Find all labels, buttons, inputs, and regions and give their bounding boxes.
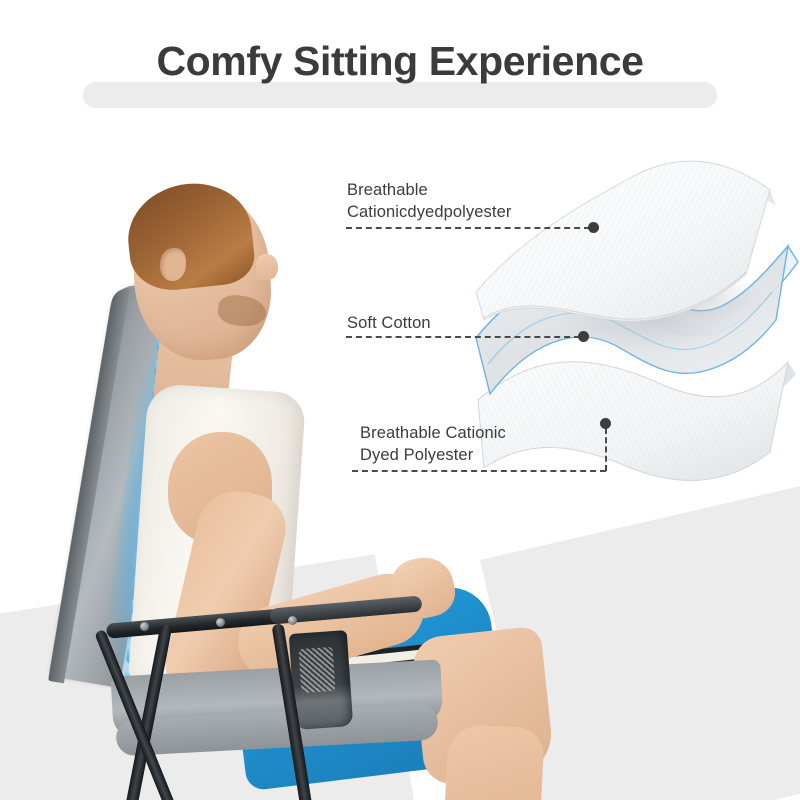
hair — [123, 178, 257, 294]
chair-rivet — [140, 622, 149, 631]
callout-breathable-bottom-label: Breathable Cationic Dyed Polyester — [360, 423, 506, 467]
page-title: Comfy Sitting Experience — [0, 38, 800, 85]
callout-soft-cotton-label: Soft Cotton — [347, 313, 431, 335]
ear — [160, 248, 186, 281]
chair-rivet — [216, 618, 225, 627]
fabric-layer-diagram — [470, 150, 800, 490]
callout-soft-cotton-dot — [578, 331, 589, 342]
callout-breathable-top-dot — [588, 222, 599, 233]
callout-breathable-top-leader — [346, 227, 590, 229]
callout-breathable-bottom-dot — [600, 418, 611, 429]
callout-breathable-top-label: Breathable Cationicdyedpolyester — [347, 180, 511, 224]
infographic-page: Comfy Sitting Experience — [0, 0, 800, 800]
title-highlight-bar — [83, 82, 717, 108]
callout-soft-cotton-leader — [346, 336, 580, 338]
bottom-polyester-sheet — [478, 362, 796, 481]
callout-breathable-bottom-leader-h — [352, 470, 606, 472]
callout-breathable-bottom-leader-v — [605, 428, 607, 471]
chair-rivet — [288, 616, 297, 625]
product-photo — [20, 170, 490, 800]
header: Comfy Sitting Experience — [0, 38, 800, 110]
cup-holder-mesh — [299, 647, 336, 693]
nose — [256, 254, 278, 280]
